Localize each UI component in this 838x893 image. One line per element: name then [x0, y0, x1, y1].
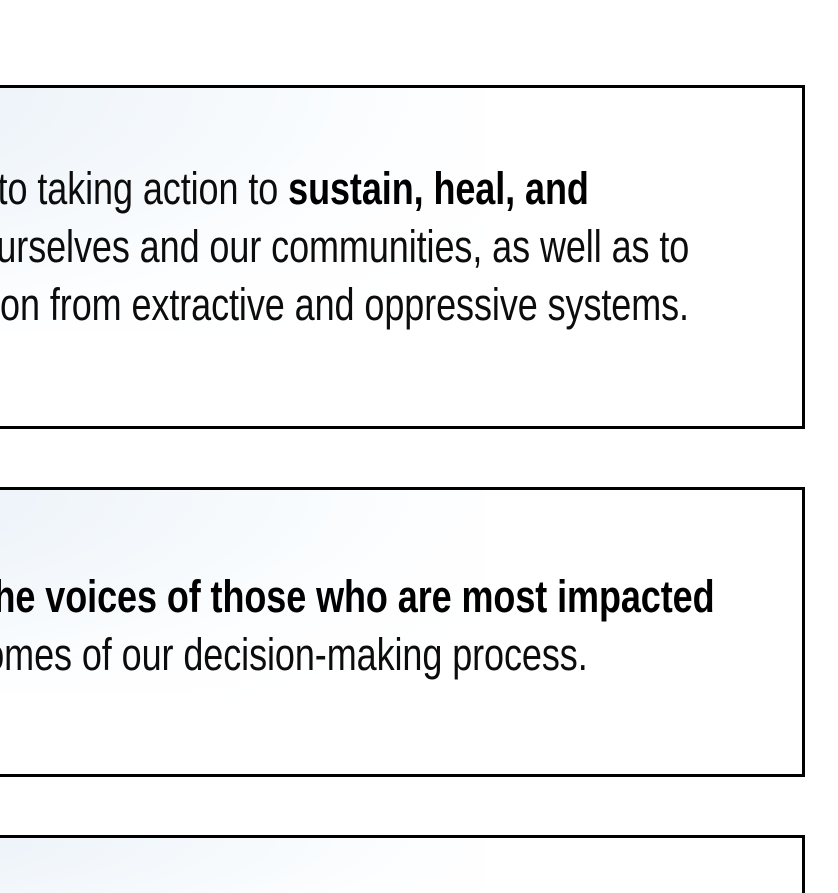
principle-card[interactable] — [0, 835, 805, 893]
card-stack: We commit to taking action to sustain, h… — [0, 85, 805, 893]
card-text: We center the voices of those who are mo… — [0, 568, 736, 684]
body-text: We commit to taking action to — [0, 163, 288, 214]
card-body — [0, 838, 802, 893]
card-body: We commit to taking action to sustain, h… — [0, 88, 802, 426]
emphasis-text: the voices of those who are most impacte… — [0, 571, 715, 622]
card-text: We commit to taking action to sustain, h… — [0, 160, 736, 334]
body-text: ourselves and our communities, as well a… — [0, 221, 689, 330]
principle-card[interactable]: We center the voices of those who are mo… — [0, 487, 805, 777]
body-text: by the outcomes of our decision-making p… — [0, 629, 588, 680]
card-body: We center the voices of those who are mo… — [0, 490, 802, 774]
page-canvas: We commit to taking action to sustain, h… — [0, 0, 838, 893]
principle-card[interactable]: We commit to taking action to sustain, h… — [0, 85, 805, 429]
